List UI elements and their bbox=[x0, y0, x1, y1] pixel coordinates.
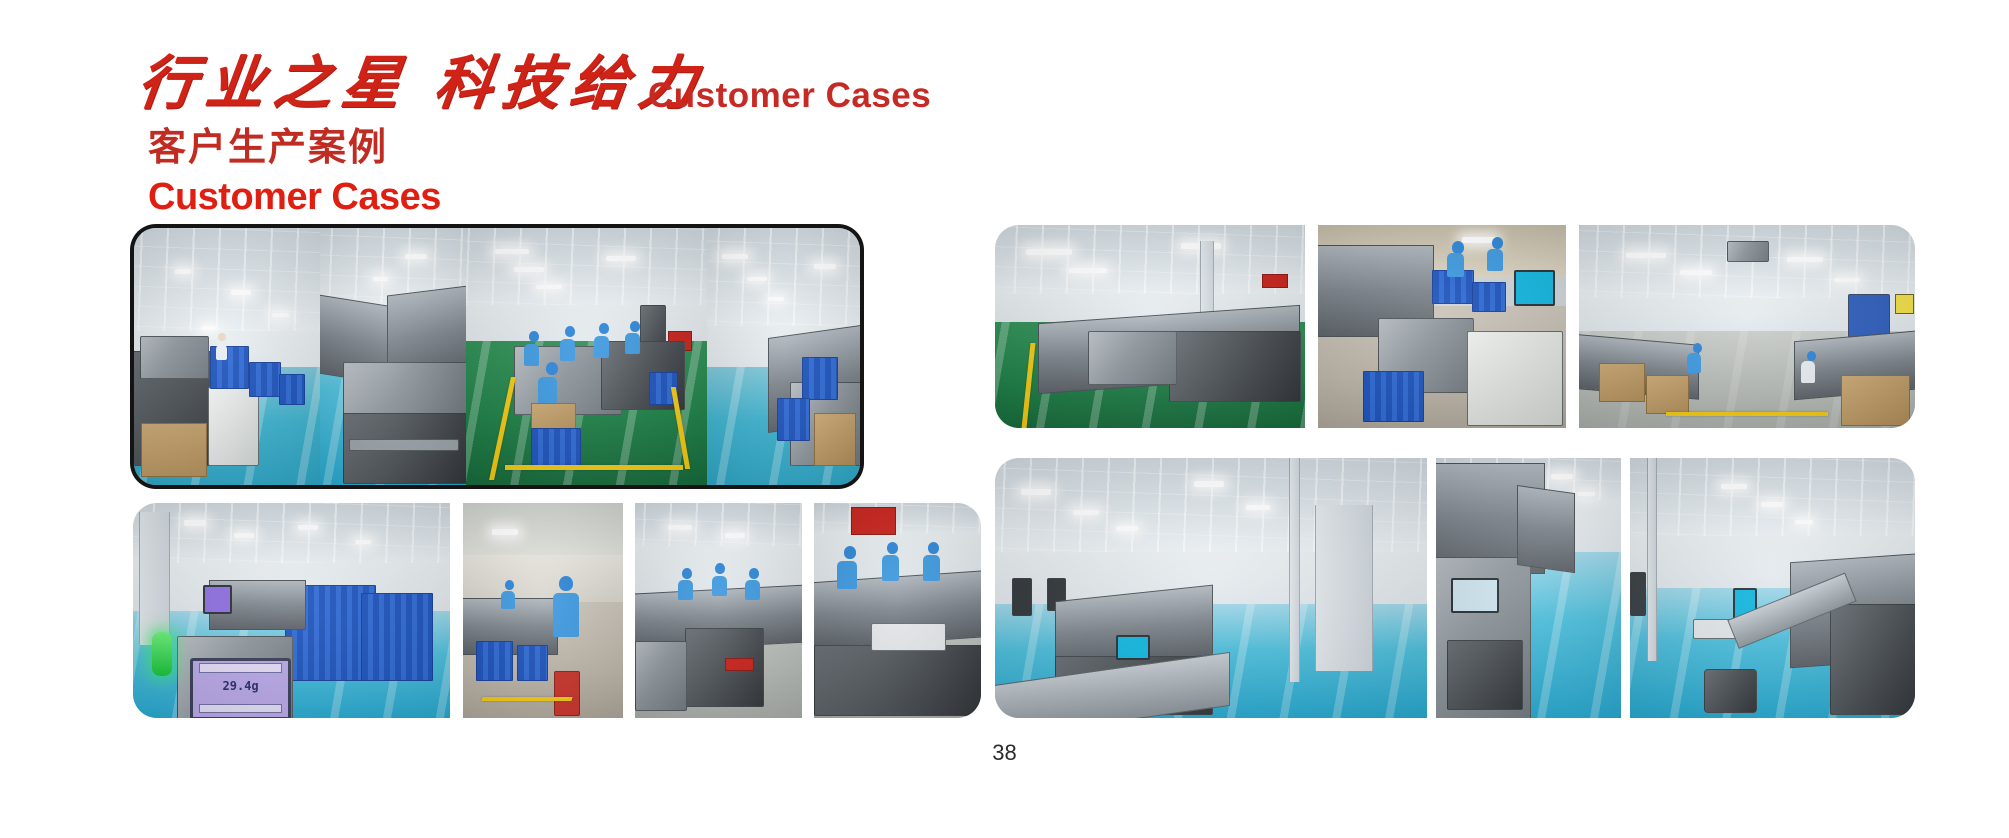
headline-english: Customer Cases bbox=[648, 78, 931, 113]
photo-equipment-bay-blue-floor bbox=[1436, 458, 1621, 718]
photo-scene bbox=[463, 503, 623, 718]
photo-packing-area-trolleys bbox=[1318, 225, 1566, 428]
photo-green-floor-machine-row bbox=[995, 225, 1305, 428]
photo-machine-bank-clean-room bbox=[635, 503, 802, 718]
calligraphy-title: 行业之星 科技给力 bbox=[134, 55, 710, 113]
page-number: 38 bbox=[0, 740, 2009, 766]
photo-conveyor-and-workstations bbox=[1630, 458, 1915, 718]
photo-scene bbox=[1318, 225, 1566, 428]
photo-corridor-machine-array bbox=[995, 458, 1427, 718]
photo-assembly-line-blue-floor bbox=[320, 224, 466, 489]
slide-header: 行业之星 科技给力 Customer Cases 客户生产案例 Customer… bbox=[0, 0, 2009, 210]
photo-scene bbox=[320, 228, 466, 485]
photo-group-bottom-right bbox=[995, 458, 1915, 718]
photo-scene bbox=[1630, 458, 1915, 718]
photo-clean-corridor-machines bbox=[707, 224, 864, 489]
subtitle-chinese: 客户生产案例 bbox=[148, 128, 388, 166]
photo-scene bbox=[635, 503, 802, 718]
photo-workshop-ibc-totes-aisle bbox=[130, 224, 320, 489]
photo-scene bbox=[134, 228, 320, 485]
photo-operator-at-machine bbox=[463, 503, 623, 718]
photo-scene bbox=[814, 503, 981, 718]
photo-scene bbox=[466, 228, 707, 485]
photo-scene bbox=[1579, 225, 1915, 428]
subtitle-english: Customer Cases bbox=[148, 178, 441, 216]
photo-group-top-right bbox=[995, 225, 1915, 428]
photo-assembly-stations-row bbox=[814, 503, 981, 718]
photo-operators-green-floor-line bbox=[466, 224, 707, 489]
photo-scene bbox=[707, 228, 860, 485]
photo-scene bbox=[995, 458, 1427, 718]
photo-scene: 29.4g bbox=[133, 503, 450, 718]
photo-packing-hall-cartons bbox=[1579, 225, 1915, 428]
photo-scene bbox=[1436, 458, 1621, 718]
photo-checkweigher-station: 29.4g bbox=[133, 503, 450, 718]
photo-group-top-left bbox=[130, 224, 980, 481]
photo-scene bbox=[995, 225, 1305, 428]
photo-group-bottom-left: 29.4g bbox=[133, 503, 981, 718]
